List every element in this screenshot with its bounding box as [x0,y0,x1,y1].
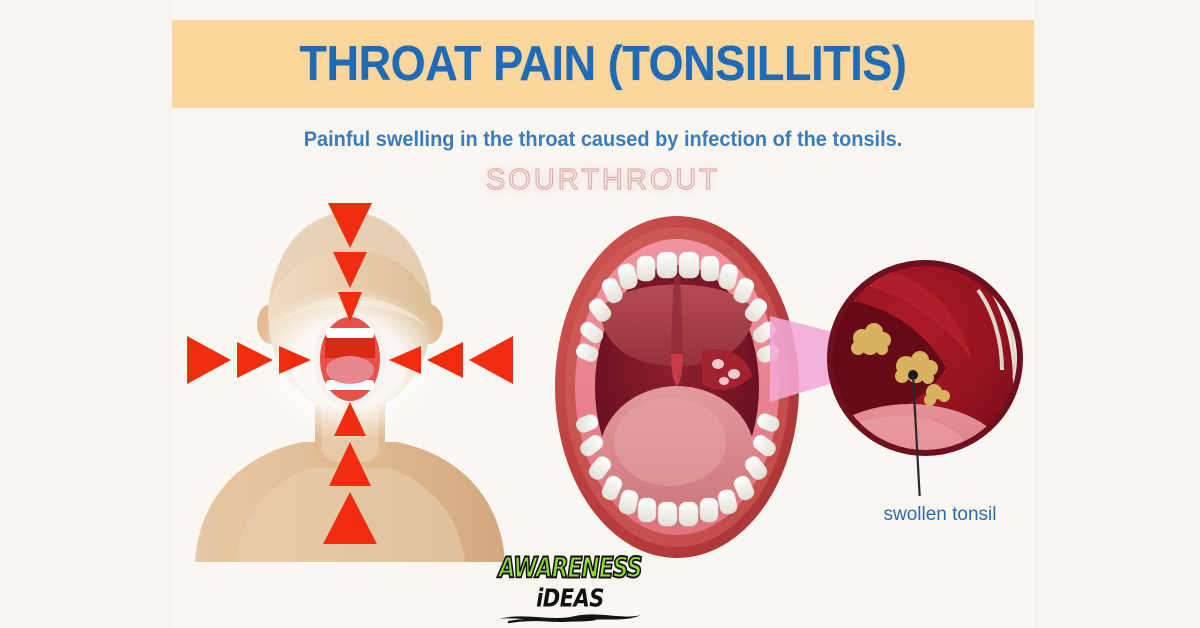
small-throat [325,338,375,358]
callout-label-swollen-tonsil: swollen tonsil [840,504,1040,526]
small-tongue [326,356,374,384]
tonsil-spot-1 [712,359,724,369]
tooth [658,502,677,526]
tooth [679,502,698,526]
arrow-right-large [187,336,231,384]
page-title: THROAT PAIN (TONSILLITIS) [299,36,906,92]
logo-line-ideas: iDEAS [470,586,670,611]
tonsil-spot-3 [719,377,729,385]
logo-line-awareness: AWARENESS [475,555,665,583]
tooth [701,256,719,281]
tooth [679,252,699,278]
tooth [638,498,656,522]
magnifier-illustration [770,250,1030,496]
head-figure-illustration [185,196,515,562]
tooth [657,252,677,278]
brand-logo: AWARENESS iDEAS [470,558,670,620]
open-mouth-illustration [552,214,802,560]
tooth [700,498,718,522]
watermark-text: SOURTHROUT [172,164,1034,197]
tooth [637,256,655,281]
subtitle-text: Painful swelling in the throat caused by… [194,128,1013,152]
arrow-left-large [469,336,513,384]
infographic-poster: THROAT PAIN (TONSILLITIS) Painful swelli… [0,0,1200,628]
small-upper-teeth [326,328,374,338]
tongue-lower-highlight [826,416,970,496]
tongue-highlight [614,398,726,486]
title-banner: THROAT PAIN (TONSILLITIS) [172,20,1034,108]
tonsil-spot-2 [728,369,740,379]
